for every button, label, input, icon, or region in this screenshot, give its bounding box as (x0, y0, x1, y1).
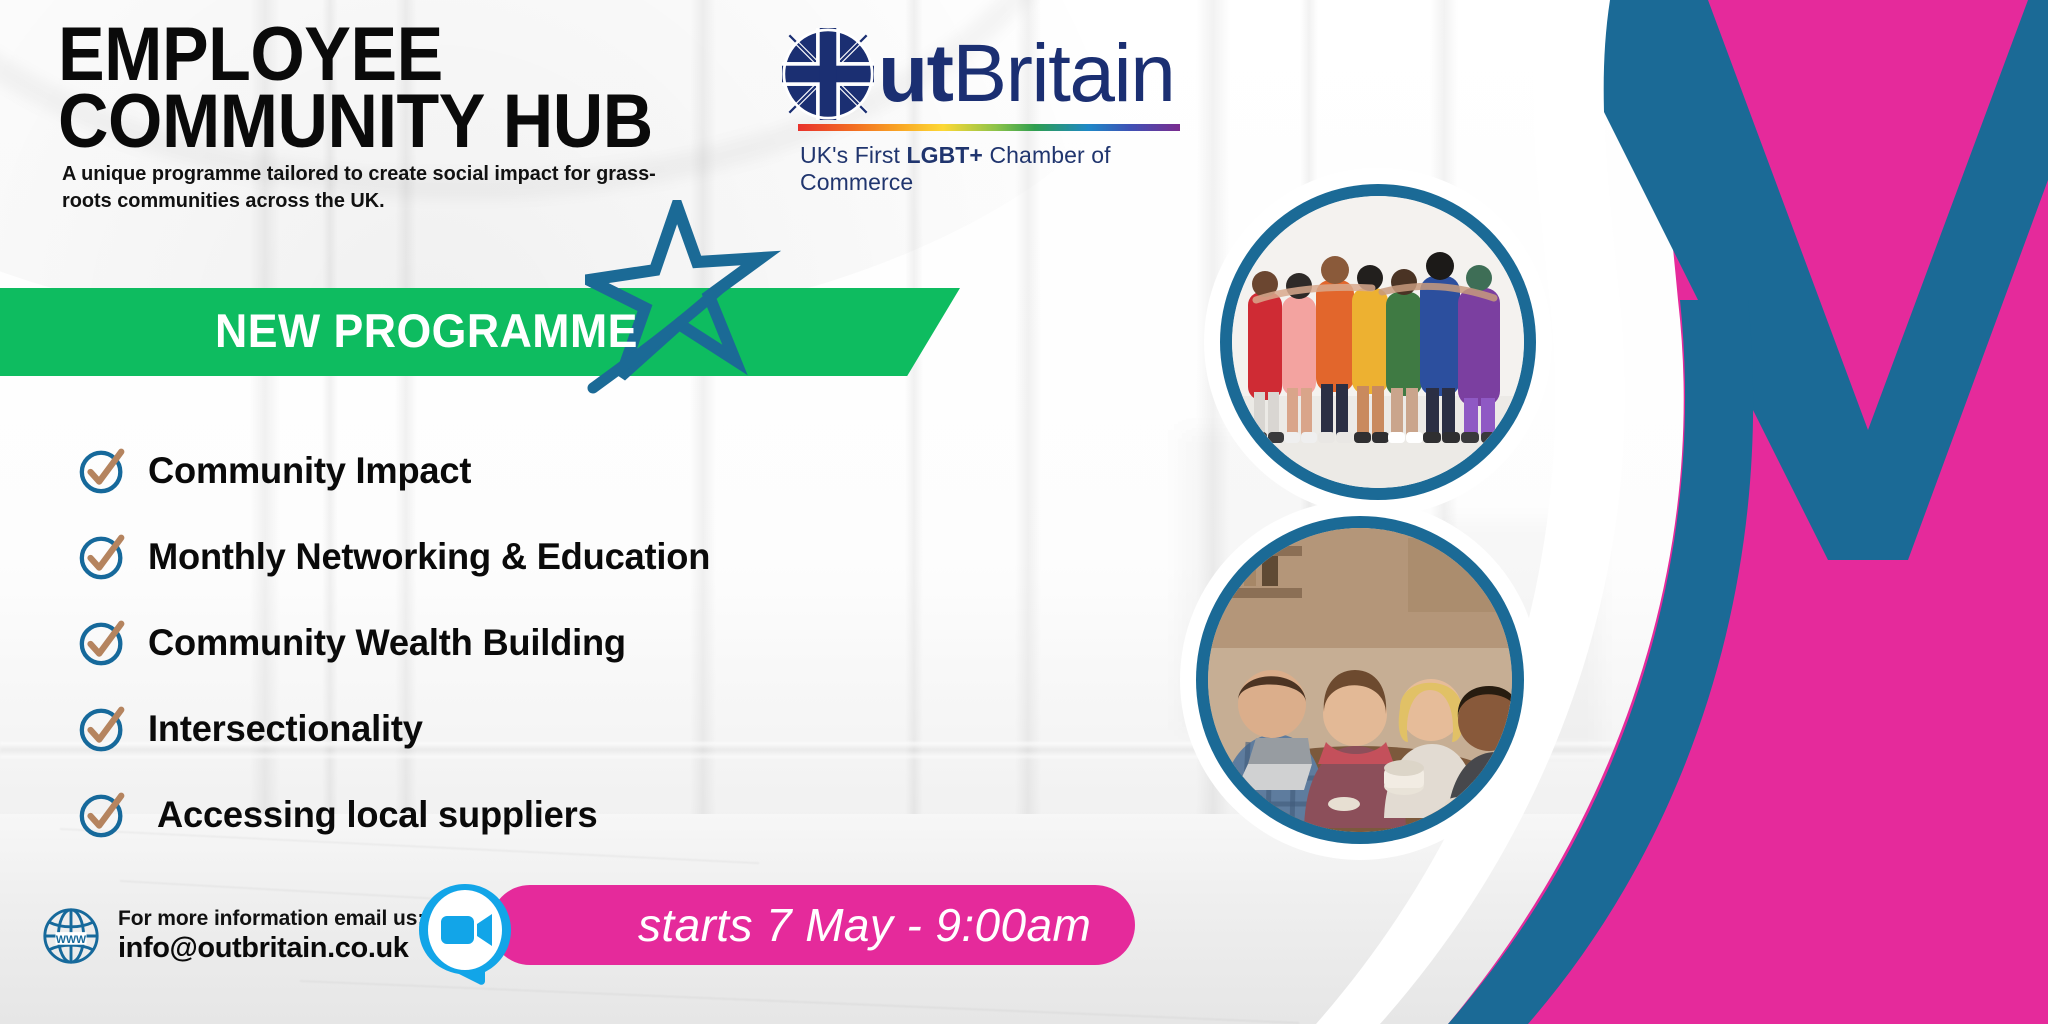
photo-group-embracing-art (1232, 196, 1524, 488)
union-jack-roundel-icon (782, 28, 874, 120)
poster-canvas: EMPLOYEE COMMUNITY HUB A unique programm… (0, 0, 2048, 1024)
page-subtitle: A unique programme tailored to create so… (62, 160, 673, 215)
tagline-bold: LGBT+ (906, 142, 983, 168)
photo-cafe-conversation (1208, 528, 1512, 832)
cta-pill[interactable]: starts 7 May - 9:00am (490, 885, 1135, 965)
contact-prompt: For more information email us: (118, 907, 424, 931)
check-circle-icon (78, 704, 128, 754)
banner-label: NEW PROGRAMME (215, 303, 709, 358)
check-circle-icon (78, 618, 128, 668)
contact-email[interactable]: info@outbritain.co.uk (118, 932, 424, 965)
wordmark-bold: ut (878, 28, 952, 119)
list-item: Accessing local suppliers (78, 772, 998, 858)
list-item: Monthly Networking & Education (78, 514, 998, 600)
list-item-label: Accessing local suppliers (157, 794, 597, 836)
rainbow-underline (798, 124, 1180, 131)
list-item: Intersectionality (78, 686, 998, 772)
feature-checklist: Community Impact Monthly Networking & Ed… (78, 428, 998, 858)
logo-tagline: UK's First LGBT+ Chamber of Commerce (800, 142, 1182, 196)
list-item-label: Community Wealth Building (148, 622, 626, 664)
outbritain-logo: utBritain UK's First LGBT+ Chamber of Co… (782, 26, 1182, 196)
list-item-label: Intersectionality (148, 708, 423, 750)
contact-block: WWW For more information email us: info@… (40, 905, 424, 967)
photo-cafe-conversation-art (1208, 528, 1512, 832)
list-item-label: Community Impact (148, 450, 471, 492)
tagline-prefix: UK's First (800, 142, 906, 168)
list-item: Community Impact (78, 428, 998, 514)
list-item-label: Monthly Networking & Education (148, 536, 710, 578)
video-camera-badge-icon[interactable] (415, 882, 515, 986)
page-title: EMPLOYEE COMMUNITY HUB (58, 22, 757, 156)
outbritain-wordmark: utBritain (878, 33, 1174, 115)
contact-text: For more information email us: info@outb… (118, 907, 424, 965)
list-item: Community Wealth Building (78, 600, 998, 686)
cta-label: starts 7 May - 9:00am (638, 898, 1091, 952)
check-circle-icon (78, 790, 128, 840)
wordmark-light: Britain (952, 28, 1174, 119)
star-graphic (585, 200, 785, 395)
page-title-line2: COMMUNITY HUB (58, 89, 757, 156)
right-decorative-shapes (1148, 0, 2048, 1024)
photo-group-embracing (1232, 196, 1524, 488)
globe-www-label: WWW (56, 934, 87, 946)
check-circle-icon (78, 446, 128, 496)
check-circle-icon (78, 532, 128, 582)
globe-www-icon: WWW (40, 905, 102, 967)
